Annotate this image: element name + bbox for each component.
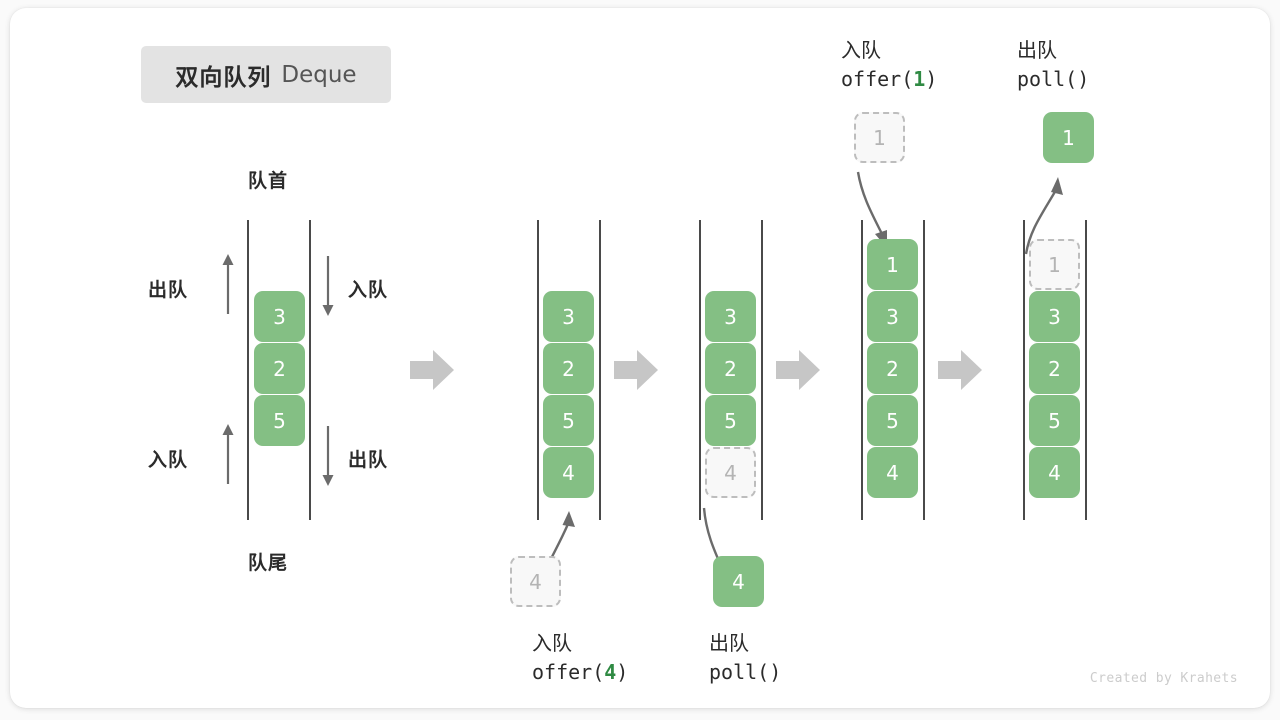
panel-offer-head: 入队 offer(1) 1 1 3 2 5 4 bbox=[834, 28, 984, 548]
deque-rail-left bbox=[1023, 220, 1025, 520]
title-cn: 双向队列 bbox=[175, 58, 271, 92]
step-arrow-2 bbox=[614, 350, 658, 390]
credit-text: Created by Krahets bbox=[1090, 671, 1238, 686]
deque-cell: 4 bbox=[1029, 447, 1080, 498]
deque-cell: 2 bbox=[867, 343, 918, 394]
deque-cell: 3 bbox=[543, 291, 594, 342]
title-en: Deque bbox=[281, 62, 356, 88]
arrow-up-tail-icon bbox=[220, 424, 236, 486]
caption-code: offer(4) bbox=[532, 658, 628, 686]
deque-rail-right bbox=[1085, 220, 1087, 520]
deque-rail-right bbox=[599, 220, 601, 520]
external-ghost-cell: 1 bbox=[854, 112, 905, 163]
deque-cell: 2 bbox=[543, 343, 594, 394]
deque-rail-right bbox=[761, 220, 763, 520]
deque-cell: 1 bbox=[867, 239, 918, 290]
arrow-down-tail-icon bbox=[320, 424, 336, 486]
arrow-up-head-icon bbox=[220, 254, 236, 316]
diagram-card: 双向队列 Deque 队首 队尾 3 2 5 出队 入队 入队 bbox=[10, 8, 1270, 708]
deque-cell: 5 bbox=[1029, 395, 1080, 446]
panel-poll-tail: 3 2 5 4 4 出队 poll() bbox=[672, 158, 812, 688]
caption-code: poll() bbox=[709, 658, 781, 686]
deque-cell: 4 bbox=[867, 447, 918, 498]
caption-code: offer(1) bbox=[841, 65, 937, 93]
deque-cell: 5 bbox=[543, 395, 594, 446]
deque-rail-right bbox=[309, 220, 311, 520]
deque-rail-left bbox=[537, 220, 539, 520]
external-result-cell: 4 bbox=[713, 556, 764, 607]
deque-rail-left bbox=[247, 220, 249, 520]
tail-label: 队尾 bbox=[208, 548, 328, 575]
caption-code: poll() bbox=[1017, 65, 1089, 93]
caption-cn: 入队 bbox=[532, 630, 628, 658]
deque-ghost-cell: 4 bbox=[705, 447, 756, 498]
label-enqueue-tail: 入队 bbox=[148, 445, 188, 472]
deque-cell: 2 bbox=[254, 343, 305, 394]
deque-cell: 4 bbox=[543, 447, 594, 498]
deque-cell: 3 bbox=[254, 291, 305, 342]
caption-cn: 出队 bbox=[1017, 37, 1089, 65]
deque-cell: 3 bbox=[867, 291, 918, 342]
panel-poll-head: 出队 poll() 1 1 3 2 5 4 bbox=[996, 28, 1146, 548]
caption-cn: 出队 bbox=[709, 630, 781, 658]
title-badge: 双向队列 Deque bbox=[141, 46, 391, 103]
deque-cell: 2 bbox=[1029, 343, 1080, 394]
deque-cell: 2 bbox=[705, 343, 756, 394]
panel-caption: 出队 poll() bbox=[709, 630, 781, 687]
deque-cell: 3 bbox=[705, 291, 756, 342]
deque-cell: 3 bbox=[1029, 291, 1080, 342]
caption-cn: 入队 bbox=[841, 37, 937, 65]
panel-offer-tail: 3 2 5 4 4 入队 offer(4) bbox=[510, 158, 650, 688]
panel-caption: 入队 offer(4) bbox=[532, 630, 628, 687]
external-result-cell: 1 bbox=[1043, 112, 1094, 163]
arrow-down-head-icon bbox=[320, 254, 336, 316]
label-dequeue-head: 出队 bbox=[148, 275, 188, 302]
step-arrow-3 bbox=[776, 350, 820, 390]
deque-cell: 5 bbox=[867, 395, 918, 446]
step-arrow-1 bbox=[410, 350, 454, 390]
deque-rail-right bbox=[923, 220, 925, 520]
deque-rail-left bbox=[699, 220, 701, 520]
panel-caption: 入队 offer(1) bbox=[841, 37, 937, 94]
panel-caption: 出队 poll() bbox=[1017, 37, 1089, 94]
step-arrow-4 bbox=[938, 350, 982, 390]
deque-ghost-cell: 1 bbox=[1029, 239, 1080, 290]
deque-rail-left bbox=[861, 220, 863, 520]
label-dequeue-tail: 出队 bbox=[348, 445, 388, 472]
deque-cell: 5 bbox=[254, 395, 305, 446]
panel-initial-deque: 队首 队尾 3 2 5 出队 入队 入队 出队 bbox=[150, 158, 410, 578]
external-ghost-cell: 4 bbox=[510, 556, 561, 607]
label-enqueue-head: 入队 bbox=[348, 275, 388, 302]
deque-cell: 5 bbox=[705, 395, 756, 446]
head-label: 队首 bbox=[208, 166, 328, 193]
